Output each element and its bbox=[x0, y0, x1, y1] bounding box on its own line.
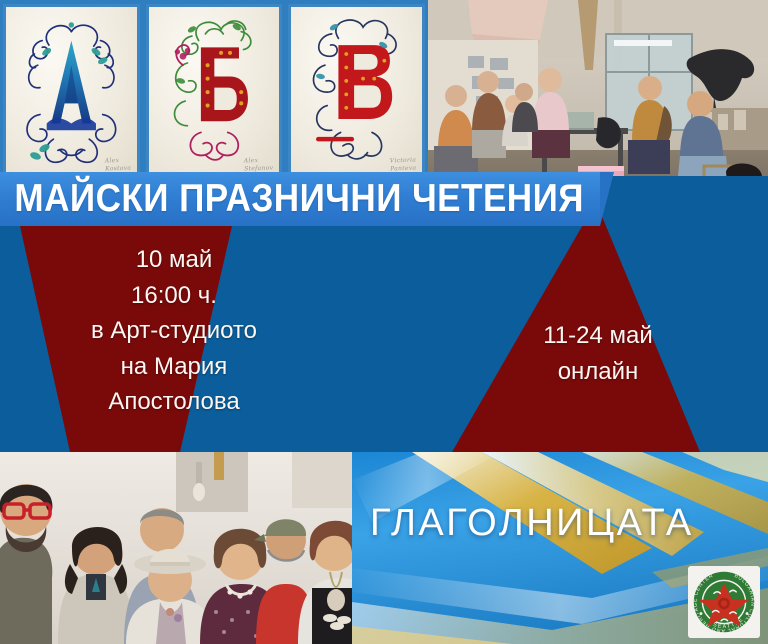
organization-title: ГЛАГОЛНИЦАТА bbox=[370, 502, 694, 545]
calligraphy-card-b: Alex Stefanov bbox=[146, 4, 283, 178]
event-poster: Alex Kostova bbox=[0, 0, 768, 644]
calligraphy-signature: Alex Kostova bbox=[104, 157, 131, 173]
onsite-date: 10 май bbox=[64, 242, 284, 278]
online-mode: онлайн bbox=[498, 354, 698, 390]
calligraphy-signature: Victoria Panteva bbox=[389, 157, 416, 173]
organization-banner: ГЛАГОЛНИЦАТА BULGARIAN CULTURAL AND HERI… bbox=[352, 452, 768, 644]
banner-tail bbox=[600, 172, 614, 226]
onsite-venue-1: в Арт-студиото bbox=[64, 313, 284, 349]
bchc-logo: BULGARIAN CULTURAL AND HERITAGE CENTER S… bbox=[688, 566, 760, 638]
illuminated-letter-b-icon bbox=[149, 7, 280, 175]
onsite-time: 16:00 ч. bbox=[64, 278, 284, 314]
illuminated-letter-a-icon bbox=[6, 7, 137, 175]
headline-banner: МАЙСКИ ПРАЗНИЧНИ ЧЕТЕНИЯ bbox=[0, 172, 600, 226]
calligraphy-card-v: Victoria Panteva bbox=[288, 4, 425, 178]
online-event-details: 11-24 май онлайн bbox=[498, 318, 698, 391]
calligraphy-signature: Alex Stefanov bbox=[244, 156, 274, 172]
calligraphy-gallery: Alex Kostova bbox=[0, 0, 428, 178]
illuminated-letter-v-icon bbox=[291, 7, 422, 175]
onsite-venue-3: Апостолова bbox=[64, 384, 284, 420]
onsite-event-details: 10 май 16:00 ч. в Арт-студиото на Мария … bbox=[64, 242, 284, 420]
headline-title: МАЙСКИ ПРАЗНИЧНИ ЧЕТЕНИЯ bbox=[0, 177, 584, 221]
group-portrait-photo bbox=[0, 452, 352, 644]
calligraphy-card-a: Alex Kostova bbox=[3, 4, 140, 178]
onsite-venue-2: на Мария bbox=[64, 349, 284, 385]
online-dates: 11-24 май bbox=[498, 318, 698, 354]
